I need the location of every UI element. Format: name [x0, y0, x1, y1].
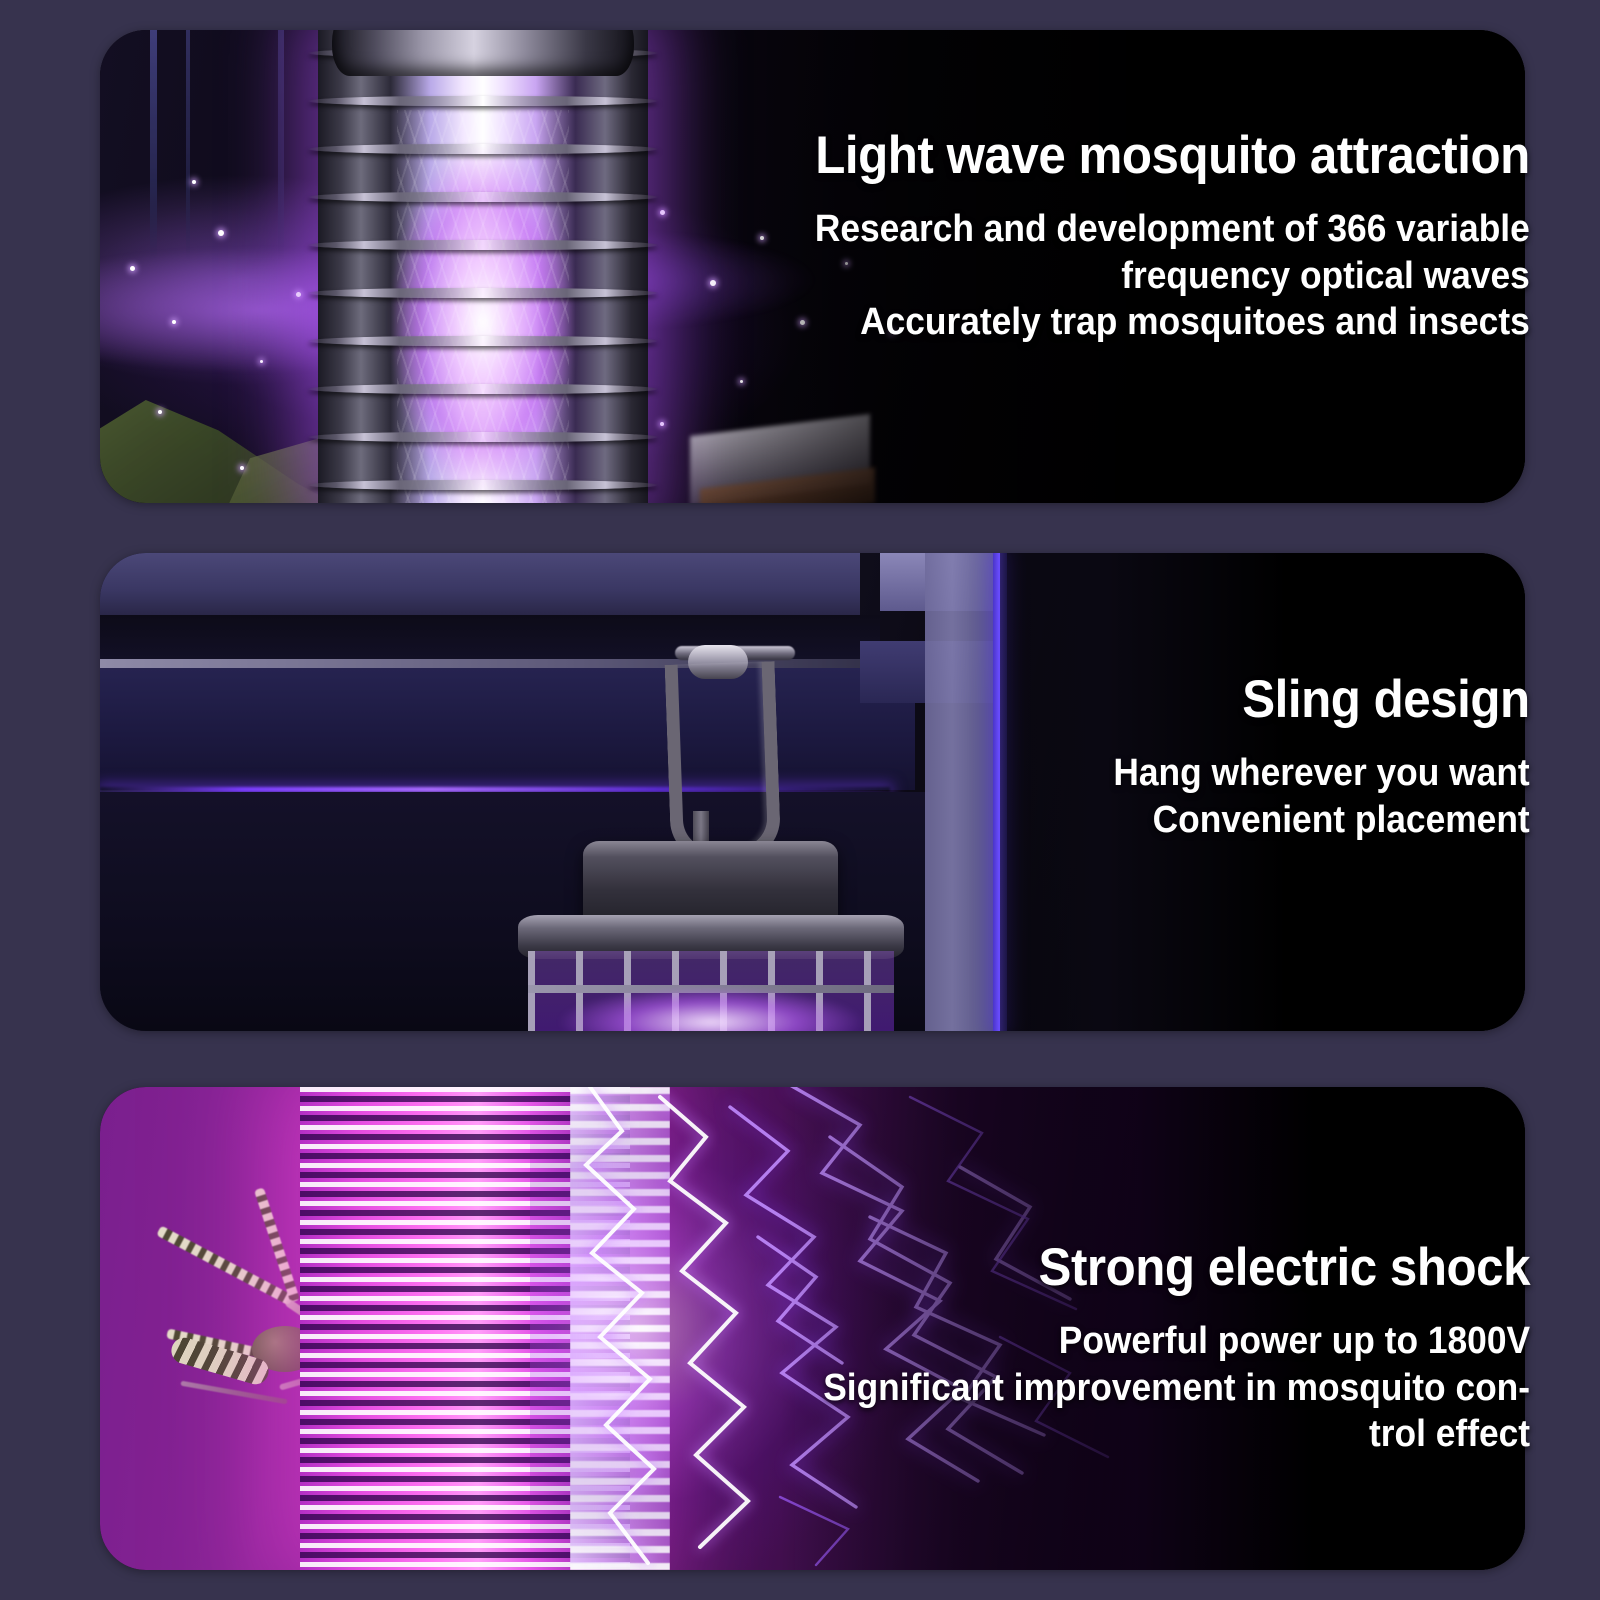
panel-2-subline-1: Hang wherever you want	[1114, 750, 1530, 796]
panel-1-subline-3: Accurately trap mosquitoes and insects	[815, 299, 1530, 345]
panel-2-subtext: Hang wherever you want Convenient placem…	[1114, 750, 1530, 843]
panel-3-copy: Strong electric shock Powerful power up …	[770, 1240, 1530, 1457]
product-feature-page: Light wave mosquito attraction Research …	[0, 0, 1600, 1600]
panel-3-subtext: Powerful power up to 1800V Significant i…	[823, 1318, 1530, 1457]
panel-3-subline-1: Powerful power up to 1800V	[823, 1318, 1530, 1364]
panel-2-headline: Sling design	[1114, 672, 1530, 728]
wall-panel	[100, 668, 915, 790]
panel-3-subline-2: Significant improvement in mosquito con-	[823, 1365, 1530, 1411]
vertical-column	[925, 553, 993, 1031]
panel-1-subline-2: frequency optical waves	[815, 253, 1530, 299]
sling-strap	[665, 661, 782, 863]
panel-3-headline: Strong electric shock	[823, 1240, 1530, 1296]
panel-2-subline-2: Convenient placement	[1114, 797, 1530, 843]
panel-1-subtext: Research and development of 366 variable…	[815, 206, 1530, 345]
panel-1-copy: Light wave mosquito attraction Research …	[761, 128, 1530, 345]
metal-rail	[100, 659, 900, 668]
panel-1-subline-1: Research and development of 366 variable	[815, 206, 1530, 252]
lamp-uv-glow	[552, 983, 870, 1031]
panel-1-headline: Light wave mosquito attraction	[815, 128, 1530, 184]
ceiling-band	[100, 553, 860, 615]
panel-3-subline-3: trol effect	[823, 1411, 1530, 1457]
uv-mosquito-lamp	[318, 30, 648, 503]
panel-2-copy: Sling design Hang wherever you want Conv…	[1082, 672, 1530, 843]
